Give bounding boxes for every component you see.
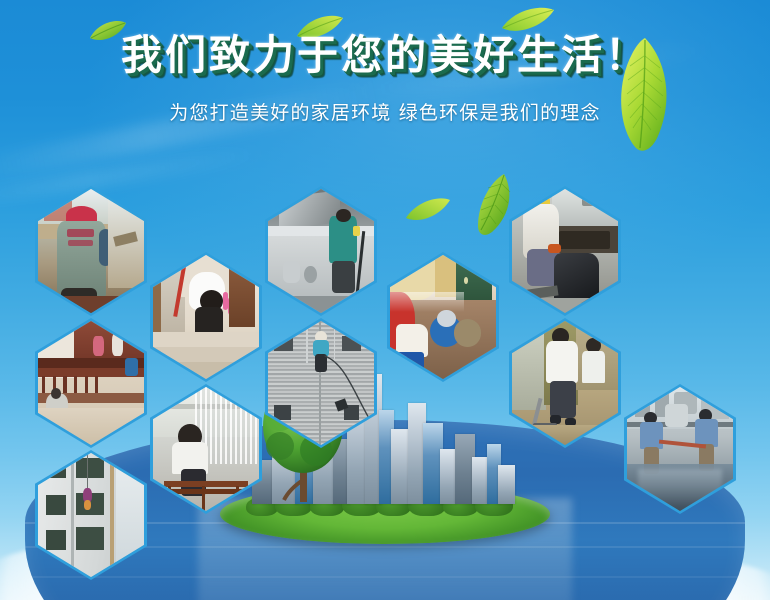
headline-container: 我们致力于您的美好生活！ (0, 34, 770, 77)
gallery-hex-tile-1[interactable] (35, 186, 147, 316)
page-title: 我们致力于您的美好生活！ (121, 34, 649, 77)
gallery-hex-tile-2[interactable] (150, 252, 262, 382)
light-streak (0, 80, 379, 186)
light-streak (0, 142, 269, 211)
banner-stage: 我们致力于您的美好生活！ 为您打造美好的家居环境 绿色环保是我们的理念 (0, 0, 770, 600)
leaf-mid-left-icon (404, 196, 452, 222)
gallery-hex-tile-4[interactable] (387, 252, 499, 382)
gallery-hex-tile-6[interactable] (35, 318, 147, 448)
page-subtitle: 为您打造美好的家居环境 绿色环保是我们的理念 (0, 98, 770, 125)
gallery-hex-tile-5[interactable] (509, 186, 621, 316)
gallery-hex-tile-3[interactable] (265, 186, 377, 316)
